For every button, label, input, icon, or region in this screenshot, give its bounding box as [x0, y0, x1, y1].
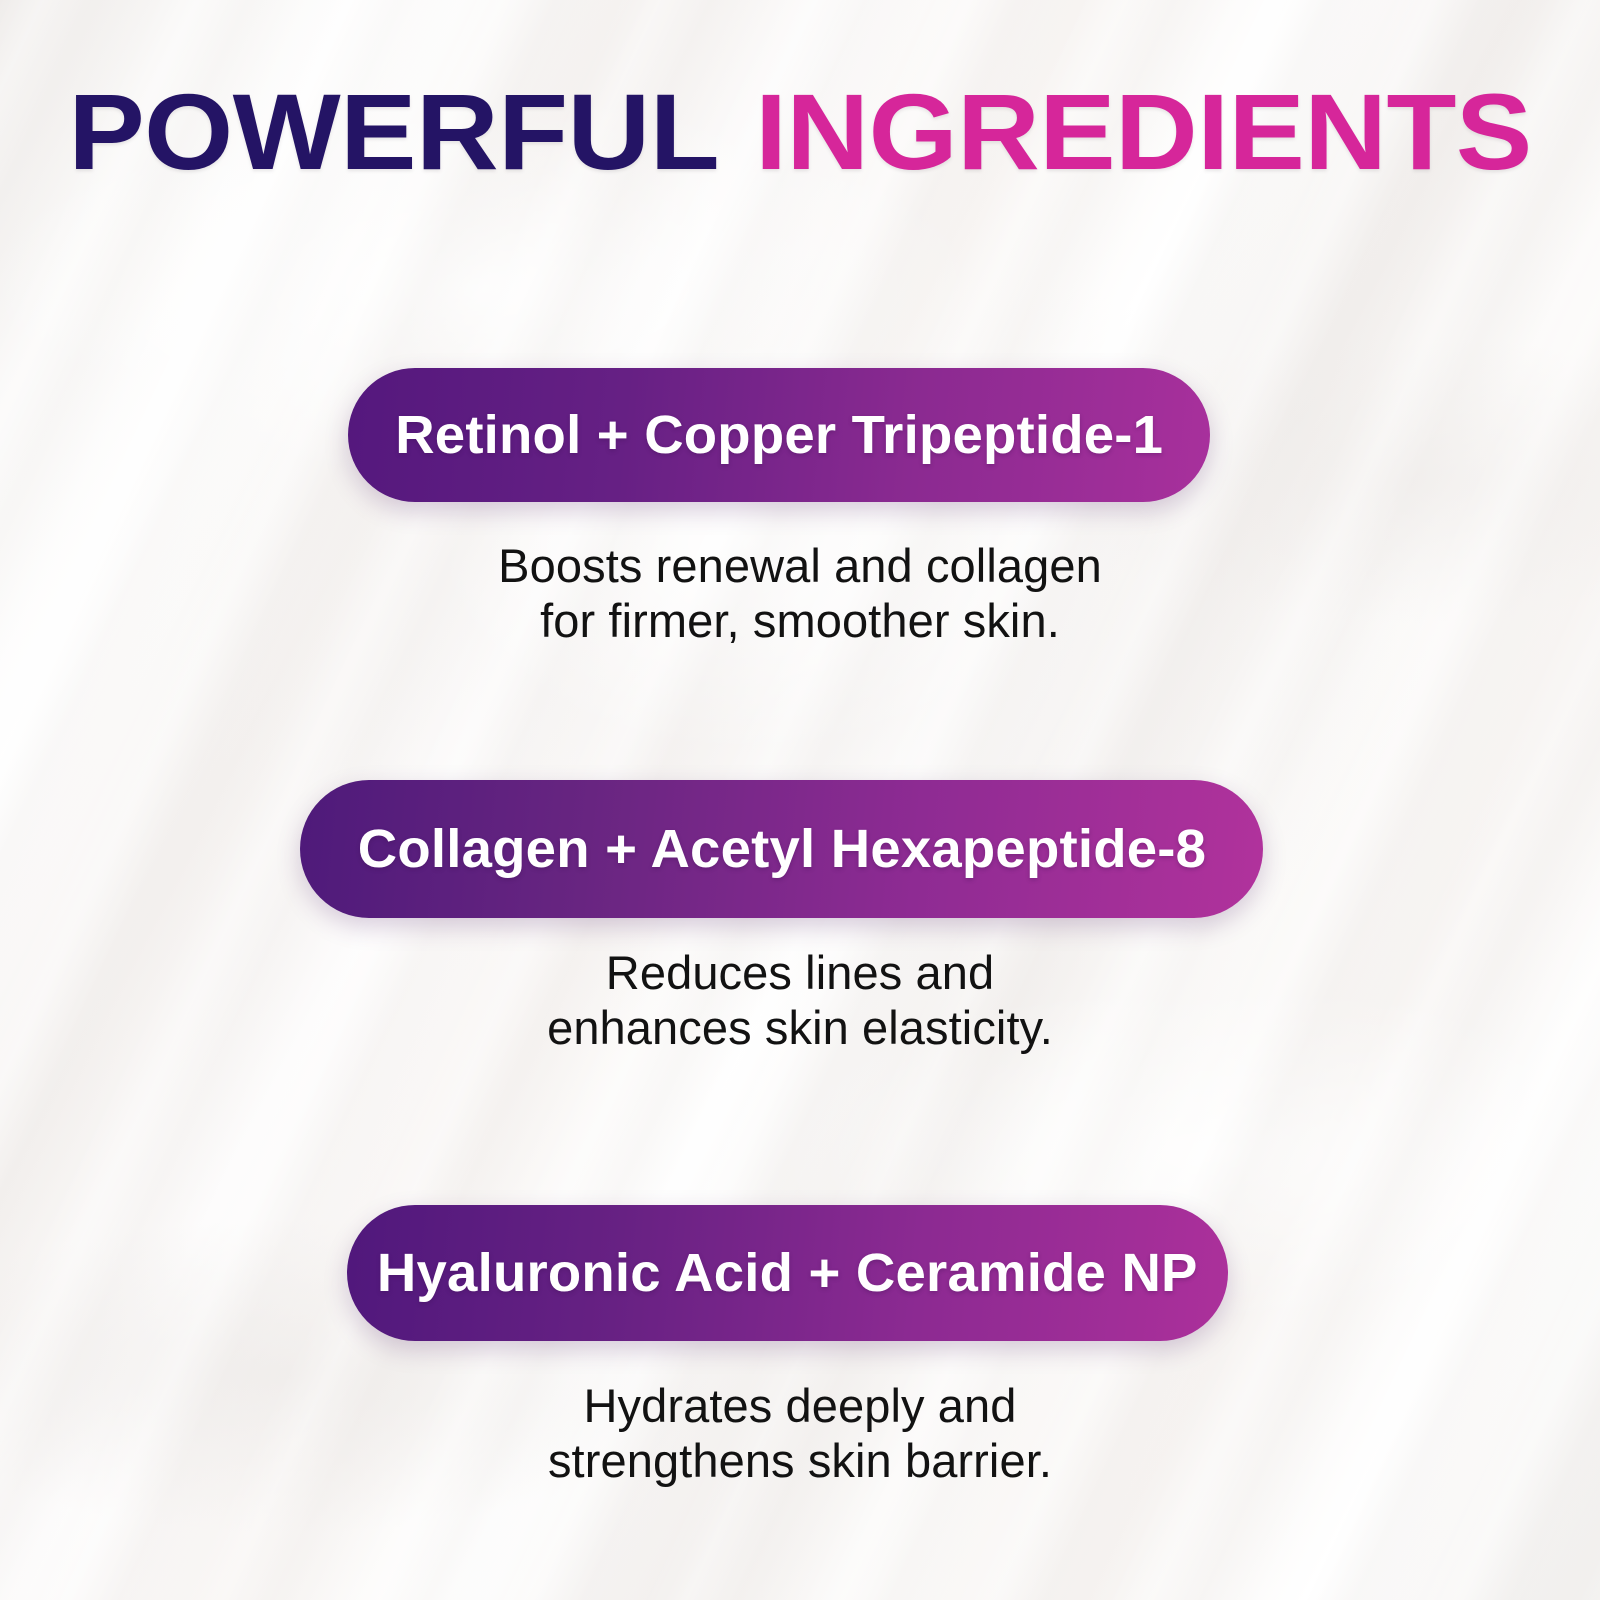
ingredient-description-3-line-1: Hydrates deeply and: [0, 1378, 1600, 1433]
ingredient-pill-retinol-copper-tripeptide[interactable]: Retinol + Copper Tripeptide-1: [348, 368, 1210, 502]
page-title-word-powerful: POWERFUL: [68, 71, 719, 192]
ingredient-description-2-line-1: Reduces lines and: [0, 945, 1600, 1000]
page-title: POWERFULINGREDIENTS: [0, 78, 1600, 186]
ingredient-pill-label-1: Retinol + Copper Tripeptide-1: [395, 404, 1163, 466]
ingredient-pill-label-2: Collagen + Acetyl Hexapeptide-8: [357, 818, 1205, 880]
ingredient-pill-label-3: Hyaluronic Acid + Ceramide NP: [377, 1242, 1198, 1304]
ingredient-description-3: Hydrates deeply and strengthens skin bar…: [0, 1378, 1600, 1489]
ingredient-description-2-line-2: enhances skin elasticity.: [0, 1000, 1600, 1055]
ingredient-pill-hyaluronic-acid-ceramide[interactable]: Hyaluronic Acid + Ceramide NP: [347, 1205, 1228, 1341]
ingredient-description-2: Reduces lines and enhances skin elastici…: [0, 945, 1600, 1056]
ingredient-description-3-line-2: strengthens skin barrier.: [0, 1433, 1600, 1488]
page-title-word-ingredients: INGREDIENTS: [755, 71, 1532, 192]
ingredient-description-1-line-1: Boosts renewal and collagen: [0, 538, 1600, 593]
ingredient-description-1: Boosts renewal and collagen for firmer, …: [0, 538, 1600, 649]
ingredient-description-1-line-2: for firmer, smoother skin.: [0, 593, 1600, 648]
ingredient-pill-collagen-acetyl-hexapeptide[interactable]: Collagen + Acetyl Hexapeptide-8: [300, 780, 1263, 918]
ingredients-infographic: POWERFULINGREDIENTS Retinol + Copper Tri…: [0, 0, 1600, 1600]
